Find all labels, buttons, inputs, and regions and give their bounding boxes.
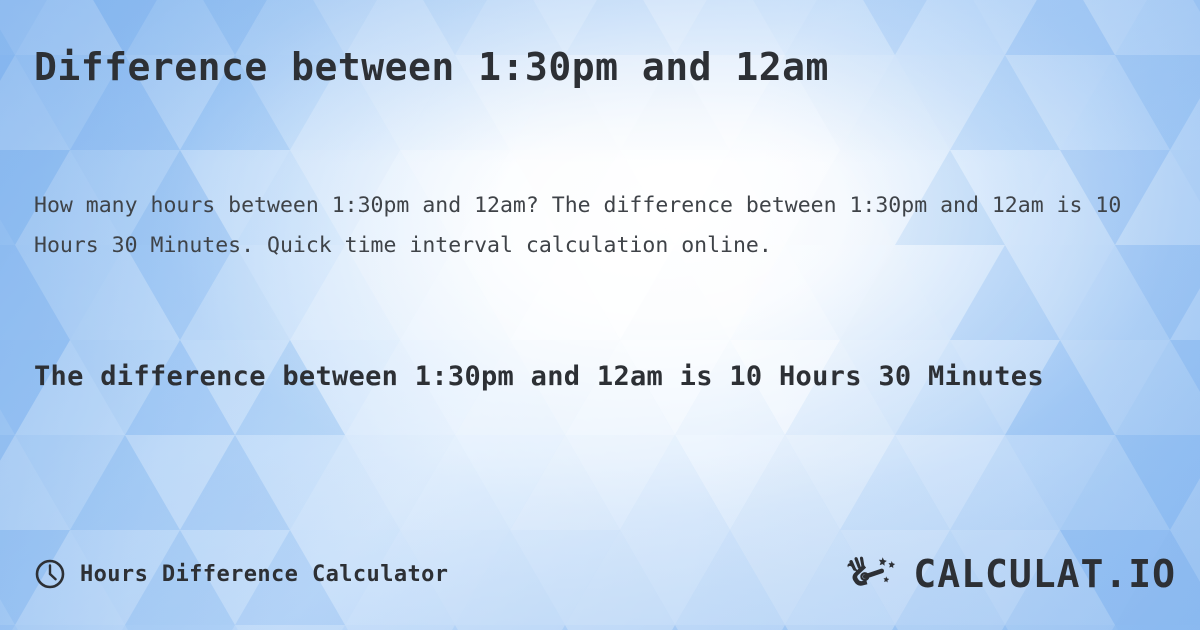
clock-icon <box>34 558 66 590</box>
share-card: Difference between 1:30pm and 12am How m… <box>0 0 1200 630</box>
site-logo[interactable]: CALCULAT.IO <box>844 554 1176 594</box>
logo-wordmark: CALCULAT.IO <box>913 555 1176 593</box>
card-content: Difference between 1:30pm and 12am How m… <box>0 0 1200 630</box>
page-title: Difference between 1:30pm and 12am <box>34 44 829 90</box>
footer: Hours Difference Calculator <box>34 552 1176 596</box>
result-heading: The difference between 1:30pm and 12am i… <box>34 355 1124 399</box>
magic-wand-hand-icon <box>844 554 906 594</box>
description-text: How many hours between 1:30pm and 12am? … <box>34 186 1144 266</box>
footer-label: Hours Difference Calculator <box>80 562 448 587</box>
footer-brand: Hours Difference Calculator <box>34 558 448 590</box>
